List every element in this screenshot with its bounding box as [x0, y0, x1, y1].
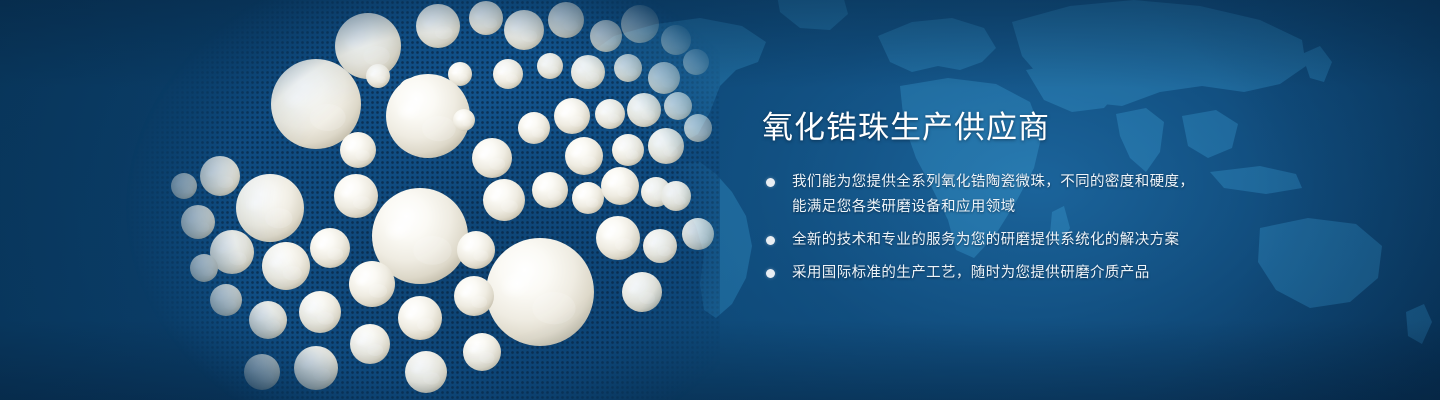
banner-bullet-list: 我们能为您提供全系列氧化锆陶瓷微珠，不同的密度和硬度， 能满足您各类研磨设备和应… — [762, 170, 1322, 286]
hero-banner: 氧化锆珠生产供应商 我们能为您提供全系列氧化锆陶瓷微珠，不同的密度和硬度， 能满… — [0, 0, 1440, 400]
bullet-item: 采用国际标准的生产工艺，随时为您提供研磨介质产品 — [762, 261, 1322, 286]
bullet-line-primary: 全新的技术和专业的服务为您的研磨提供系统化的解决方案 — [792, 228, 1322, 253]
bullet-line-primary: 我们能为您提供全系列氧化锆陶瓷微珠，不同的密度和硬度， — [792, 170, 1322, 195]
bead-cluster-illustration — [120, 0, 720, 400]
bullet-dot-icon — [766, 236, 775, 245]
bullet-item: 全新的技术和专业的服务为您的研磨提供系统化的解决方案 — [762, 228, 1322, 253]
bullet-line-secondary: 能满足您各类研磨设备和应用领域 — [792, 195, 1322, 220]
bullet-line-primary: 采用国际标准的生产工艺，随时为您提供研磨介质产品 — [792, 261, 1322, 286]
product-photo-zirconia-beads — [120, 0, 720, 400]
banner-headline: 氧化锆珠生产供应商 — [762, 108, 1322, 148]
bullet-dot-icon — [766, 178, 775, 187]
bullet-item: 我们能为您提供全系列氧化锆陶瓷微珠，不同的密度和硬度， 能满足您各类研磨设备和应… — [762, 170, 1322, 220]
banner-copy-block: 氧化锆珠生产供应商 我们能为您提供全系列氧化锆陶瓷微珠，不同的密度和硬度， 能满… — [762, 108, 1322, 286]
bullet-dot-icon — [766, 269, 775, 278]
